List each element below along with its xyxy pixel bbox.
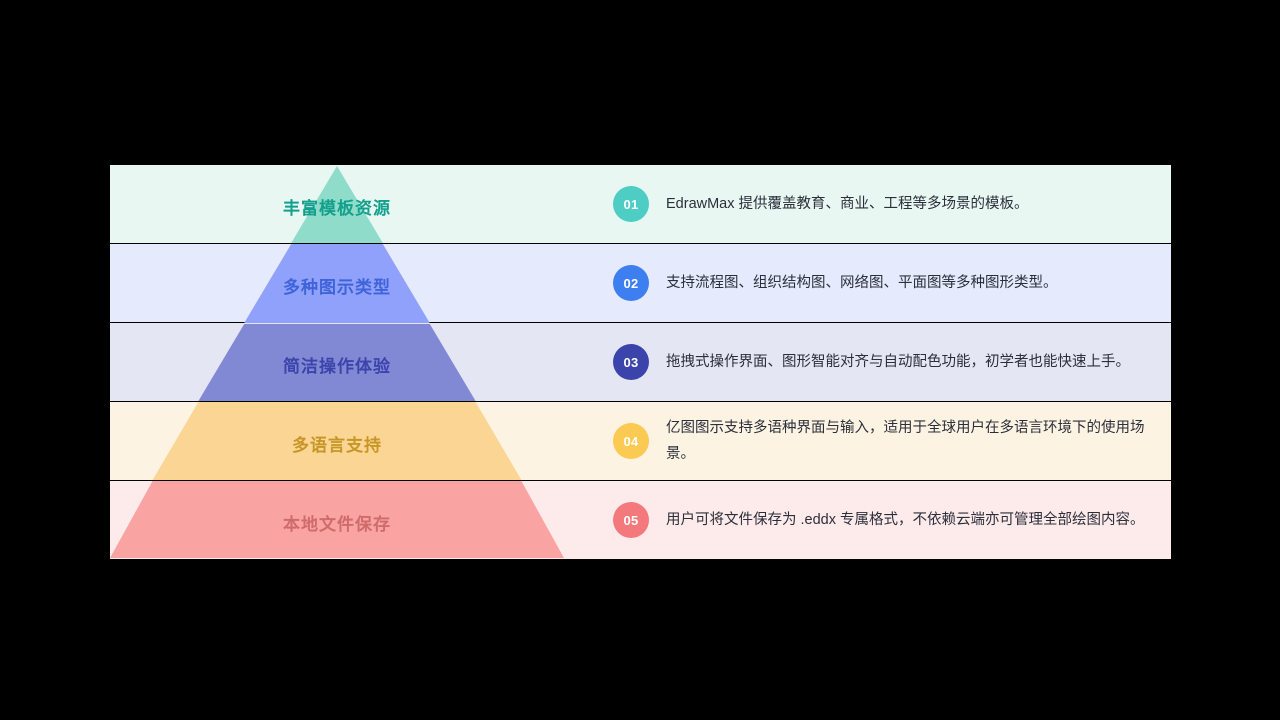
description-row-04: 04 亿图图示支持多语种界面与输入，适用于全球用户在多语言环境下的使用场景。: [613, 402, 1153, 480]
description-row-03: 03 拖拽式操作界面、图形智能对齐与自动配色功能，初学者也能快速上手。: [613, 323, 1153, 401]
level-number-badge-01: 01: [613, 186, 649, 222]
slide-canvas: 01 EdrawMax 提供覆盖教育、商业、工程等多场景的模板。 02 支持流程…: [0, 0, 1280, 720]
description-row-05: 05 用户可将文件保存为 .eddx 专属格式，不依赖云端亦可管理全部绘图内容。: [613, 481, 1153, 559]
level-description-03: 拖拽式操作界面、图形智能对齐与自动配色功能，初学者也能快速上手。: [666, 349, 1153, 375]
level-number-badge-04: 04: [613, 423, 649, 459]
level-number-badge-05: 05: [613, 502, 649, 538]
level-description-02: 支持流程图、组织结构图、网络图、平面图等多种图形类型。: [666, 270, 1153, 296]
level-number-badge-03: 03: [613, 344, 649, 380]
level-description-04: 亿图图示支持多语种界面与输入，适用于全球用户在多语言环境下的使用场景。: [666, 415, 1153, 467]
level-number-badge-02: 02: [613, 265, 649, 301]
pyramid-tier-label-03: 简洁操作体验: [127, 352, 547, 377]
description-row-01: 01 EdrawMax 提供覆盖教育、商业、工程等多场景的模板。: [613, 165, 1153, 243]
pyramid-tier-label-01: 丰富模板资源: [127, 194, 547, 219]
description-row-02: 02 支持流程图、组织结构图、网络图、平面图等多种图形类型。: [613, 244, 1153, 322]
level-description-01: EdrawMax 提供覆盖教育、商业、工程等多场景的模板。: [666, 191, 1153, 217]
level-description-05: 用户可将文件保存为 .eddx 专属格式，不依赖云端亦可管理全部绘图内容。: [666, 507, 1153, 533]
pyramid-tier-label-02: 多种图示类型: [127, 273, 547, 298]
pyramid-tier-label-04: 多语言支持: [127, 431, 547, 456]
pyramid-tier-label-05: 本地文件保存: [127, 510, 547, 535]
